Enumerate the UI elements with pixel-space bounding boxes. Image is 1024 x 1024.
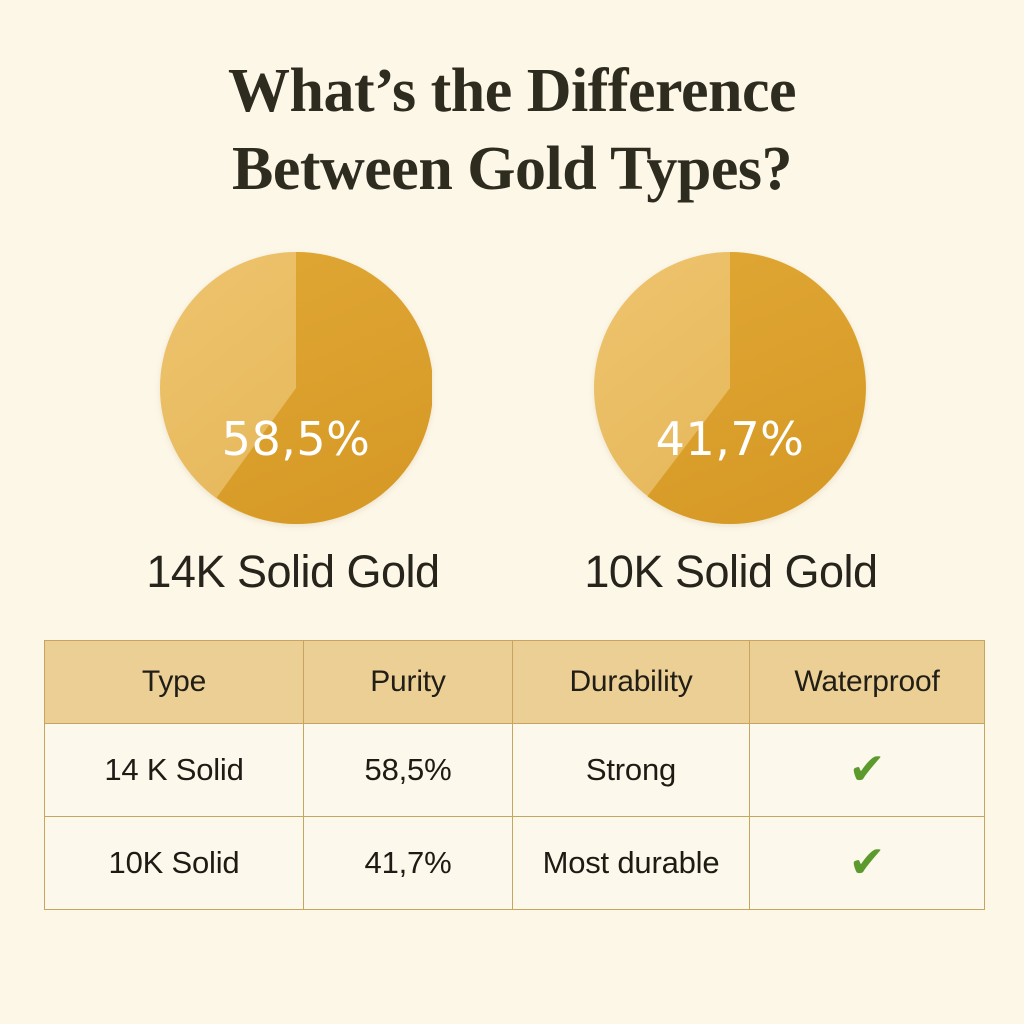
column-header-waterproof: Waterproof — [750, 641, 985, 724]
cell-type-14k: 14 K Solid — [45, 724, 304, 817]
pie-caption-group: 14K Solid Gold 10K Solid Gold — [0, 542, 1024, 604]
column-header-type: Type — [45, 641, 304, 724]
table-row: 10K Solid 41,7% Most durable ✔ — [45, 817, 985, 910]
column-header-durability: Durability — [513, 641, 750, 724]
title-line-2: Between Gold Types? — [0, 130, 1024, 208]
pie-chart-14k: 58,5% — [160, 252, 432, 524]
gold-comparison-table: Type Purity Durability Waterproof 14 K S… — [44, 640, 985, 910]
column-header-purity: Purity — [304, 641, 513, 724]
pie-chart-14k-svg — [160, 252, 432, 524]
check-icon: ✔ — [849, 748, 886, 792]
check-icon: ✔ — [849, 841, 886, 885]
cell-durability-10k: Most durable — [513, 817, 750, 910]
table-header-row: Type Purity Durability Waterproof — [45, 641, 985, 724]
cell-durability-14k: Strong — [513, 724, 750, 817]
table-body: 14 K Solid 58,5% Strong ✔ 10K Solid 41,7… — [45, 724, 985, 910]
table-row: 14 K Solid 58,5% Strong ✔ — [45, 724, 985, 817]
cell-purity-10k: 41,7% — [304, 817, 513, 910]
pie-chart-10k-svg — [594, 252, 866, 524]
cell-purity-14k: 58,5% — [304, 724, 513, 817]
cell-waterproof-10k: ✔ — [750, 817, 985, 910]
cell-waterproof-14k: ✔ — [750, 724, 985, 817]
cell-type-10k: 10K Solid — [45, 817, 304, 910]
pie-chart-group: 58,5% 41,7% — [0, 252, 1024, 532]
table-header: Type Purity Durability Waterproof — [45, 641, 985, 724]
title-line-1: What’s the Difference — [0, 52, 1024, 130]
pie-caption-14k: 14K Solid Gold — [78, 542, 508, 602]
pie-caption-10k: 10K Solid Gold — [516, 542, 946, 602]
page-title: What’s the Difference Between Gold Types… — [0, 52, 1024, 208]
pie-chart-10k: 41,7% — [594, 252, 866, 524]
